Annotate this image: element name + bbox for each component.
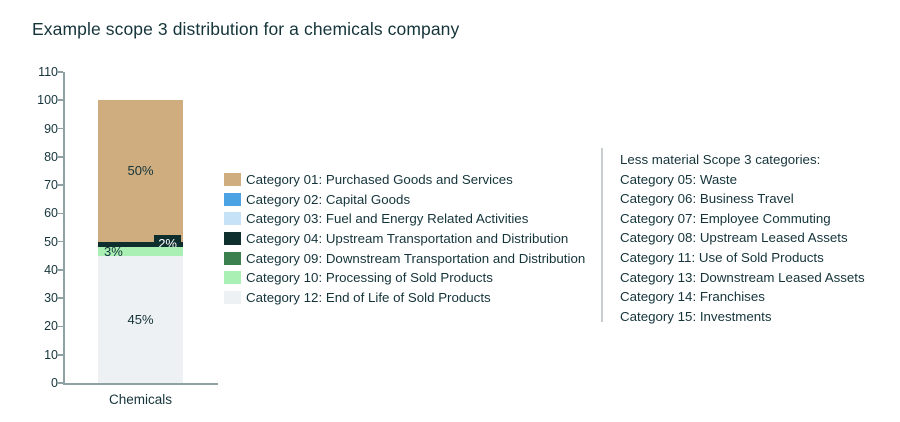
bar-segment-category-12[interactable]: 45% [98,256,183,383]
legend-swatch-icon [224,232,241,245]
x-axis-tick-label-chemicals: Chemicals [63,392,218,408]
legend-item[interactable]: Category 01: Purchased Goods and Service… [224,170,585,190]
y-axis-tick-mark [57,71,63,73]
legend-swatch-icon [224,252,241,265]
y-axis-tick-label: 70 [24,179,58,192]
side-panel-heading: Less material Scope 3 categories: [620,150,865,170]
legend-item-label: Category 02: Capital Goods [246,192,410,207]
legend-item-label: Category 12: End of Life of Sold Product… [246,290,491,305]
y-axis-tick-label: 10 [24,349,58,362]
legend-swatch-icon [224,193,241,206]
y-axis-tick-mark [57,297,63,299]
y-axis-tick-mark [57,382,63,384]
legend-item[interactable]: Category 09: Downstream Transportation a… [224,248,585,268]
bar-segment-category-10[interactable]: 3% [98,247,183,255]
y-axis-tick-label: 50 [24,236,58,249]
legend-swatch-icon [224,291,241,304]
y-axis-tick-mark [57,156,63,158]
y-axis-tick-mark [57,128,63,130]
bar-segment-category-01[interactable]: 50% [98,100,183,241]
bar-segment-label-category-01: 50% [98,164,183,177]
stacked-bar-chemicals[interactable]: 50% 2% 3% 45% [98,100,183,383]
y-axis-tick-mark [57,184,63,186]
legend-swatch-icon [224,212,241,225]
y-axis-tick-label: 90 [24,123,58,136]
y-axis-tick-labels: 1101009080706050403020100 [24,0,58,422]
y-axis-tick-mark [57,326,63,328]
legend-item-label: Category 01: Purchased Goods and Service… [246,172,513,187]
side-panel-less-material-categories: Less material Scope 3 categories: Catego… [620,150,865,326]
y-axis-tick-mark [57,213,63,215]
y-axis-tick-label: 30 [24,292,58,305]
y-axis-tick-label: 80 [24,151,58,164]
side-panel-list-item: Category 14: Franchises [620,287,865,307]
y-axis-tick-label: 60 [24,207,58,220]
x-axis-line [63,383,218,385]
side-panel-list-item: Category 13: Downstream Leased Assets [620,268,865,288]
y-axis-tick-mark [57,269,63,271]
y-axis-tick-label: 110 [24,66,58,79]
legend-item-label: Category 04: Upstream Transportation and… [246,231,568,246]
legend-item[interactable]: Category 12: End of Life of Sold Product… [224,288,585,308]
side-panel-list-item: Category 07: Employee Commuting [620,209,865,229]
legend-swatch-icon [224,173,241,186]
y-axis-tick-label: 20 [24,320,58,333]
legend-item[interactable]: Category 10: Processing of Sold Products [224,268,585,288]
side-panel-list-item: Category 08: Upstream Leased Assets [620,228,865,248]
side-panel-list-item: Category 05: Waste [620,170,865,190]
y-axis-line [63,72,65,384]
y-axis-tick-label: 40 [24,264,58,277]
legend-item-label: Category 10: Processing of Sold Products [246,270,493,285]
legend-swatch-icon [224,271,241,284]
side-panel-divider [601,148,603,322]
y-axis-tick-mark [57,354,63,356]
legend-item[interactable]: Category 04: Upstream Transportation and… [224,229,585,249]
y-axis-tick-label: 0 [24,377,58,390]
side-panel-list-item: Category 06: Business Travel [620,189,865,209]
side-panel-list-item: Category 15: Investments [620,307,865,327]
legend-item[interactable]: Category 03: Fuel and Energy Related Act… [224,209,585,229]
y-axis-tick-mark [57,99,63,101]
legend-item-label: Category 03: Fuel and Energy Related Act… [246,211,528,226]
y-axis-tick-label: 100 [24,94,58,107]
legend-item-label: Category 09: Downstream Transportation a… [246,251,585,266]
bar-segment-label-category-12: 45% [98,313,183,326]
legend-item[interactable]: Category 02: Capital Goods [224,190,585,210]
y-axis-tick-mark [57,241,63,243]
side-panel-list-item: Category 11: Use of Sold Products [620,248,865,268]
chart-legend: Category 01: Purchased Goods and Service… [224,170,585,307]
